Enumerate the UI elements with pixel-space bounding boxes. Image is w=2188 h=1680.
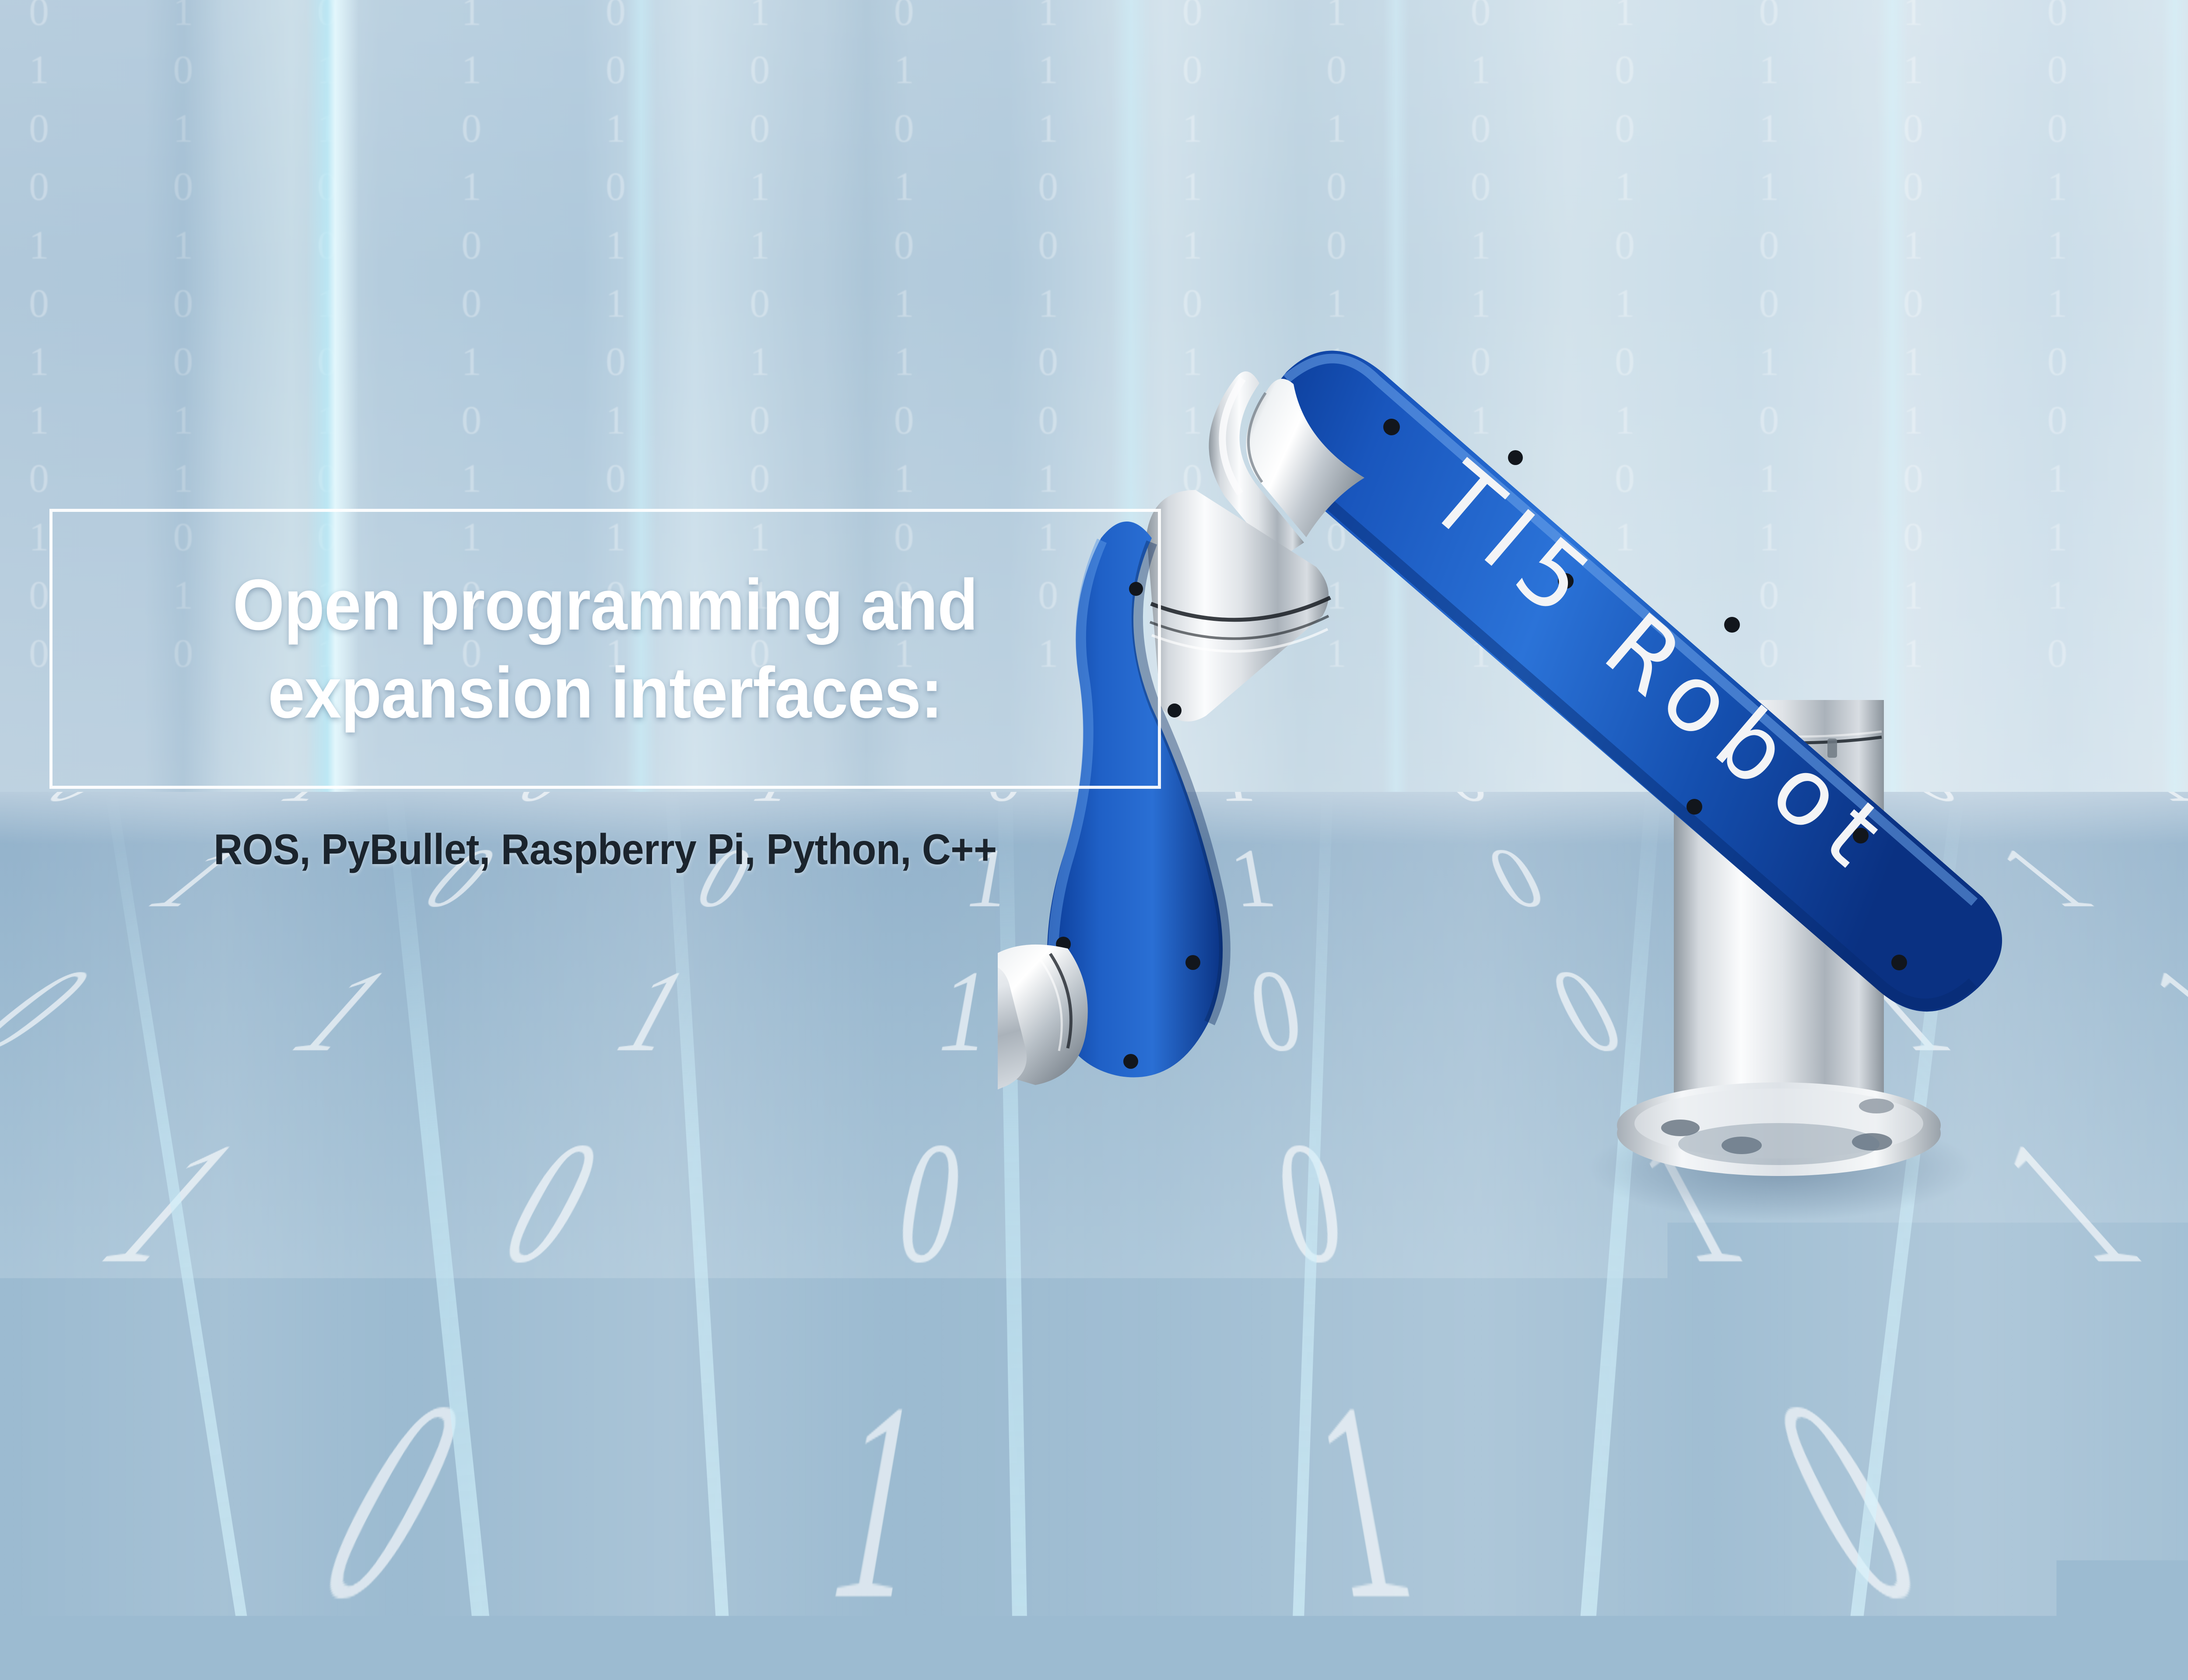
robot-arm-image: TI5 Robot [998, 254, 2188, 1304]
headline-frame: Open programming and expansion interface… [49, 509, 1161, 789]
subtitle-text: ROS, PyBullet, Raspberry Pi, Python, C++ [88, 825, 1122, 874]
robot-brand-label: TI5 Robot [1409, 443, 1914, 896]
page-title: Open programming and expansion interface… [138, 561, 1072, 737]
robot-upper-link: TI5 Robot [1258, 350, 2002, 1011]
slide-canvas: 0 1 0 0 1 0 1 1 0 1 0 0 1 0 1 0 1 0 0 1 … [0, 0, 2188, 1680]
